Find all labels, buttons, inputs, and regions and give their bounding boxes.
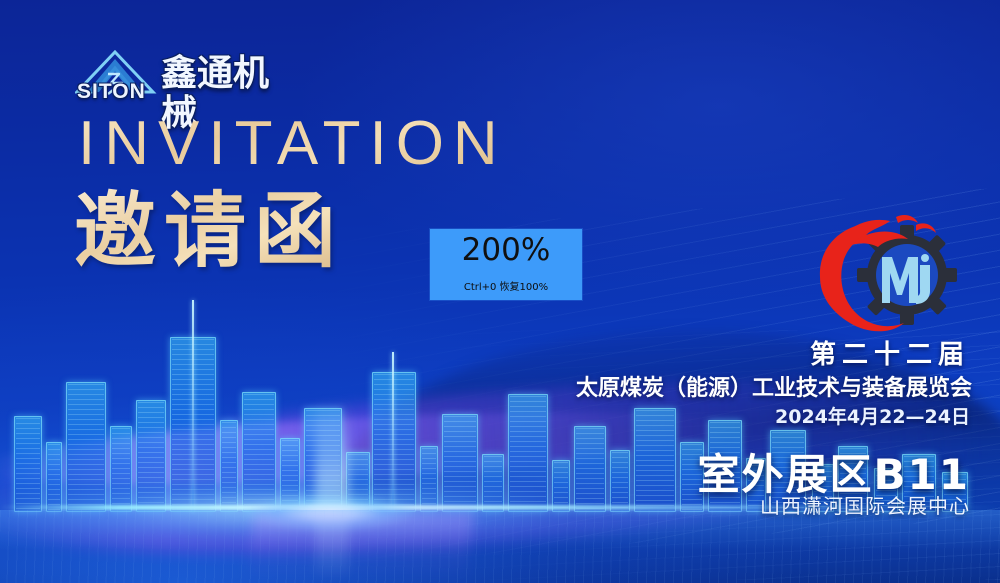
event-name: 太原煤炭（能源）工业技术与装备展览会 [576,370,972,402]
zoom-level-overlay: 200% Ctrl+0 恢复100% [430,229,582,300]
expo-emblem [812,203,964,335]
siton-wordmark: SITON [77,80,146,104]
headline-english: INVITATION [78,108,507,179]
event-date: 2024年4月22—24日 [775,402,970,429]
headline-chinese: 邀请函 [74,186,344,278]
zoom-reset-hint: Ctrl+0 恢复100% [464,278,548,293]
event-edition: 第二十二届 [810,334,970,371]
reflection-beam [246,512,475,583]
event-venue: 山西潇河国际会展中心 [760,490,970,519]
siton-logo: SITON 鑫通机械 [75,50,285,105]
zoom-percentage: 200% [462,235,551,266]
water-reflection [0,510,1000,583]
invitation-poster: SITON 鑫通机械 INVITATION 邀请函 [0,0,1000,583]
